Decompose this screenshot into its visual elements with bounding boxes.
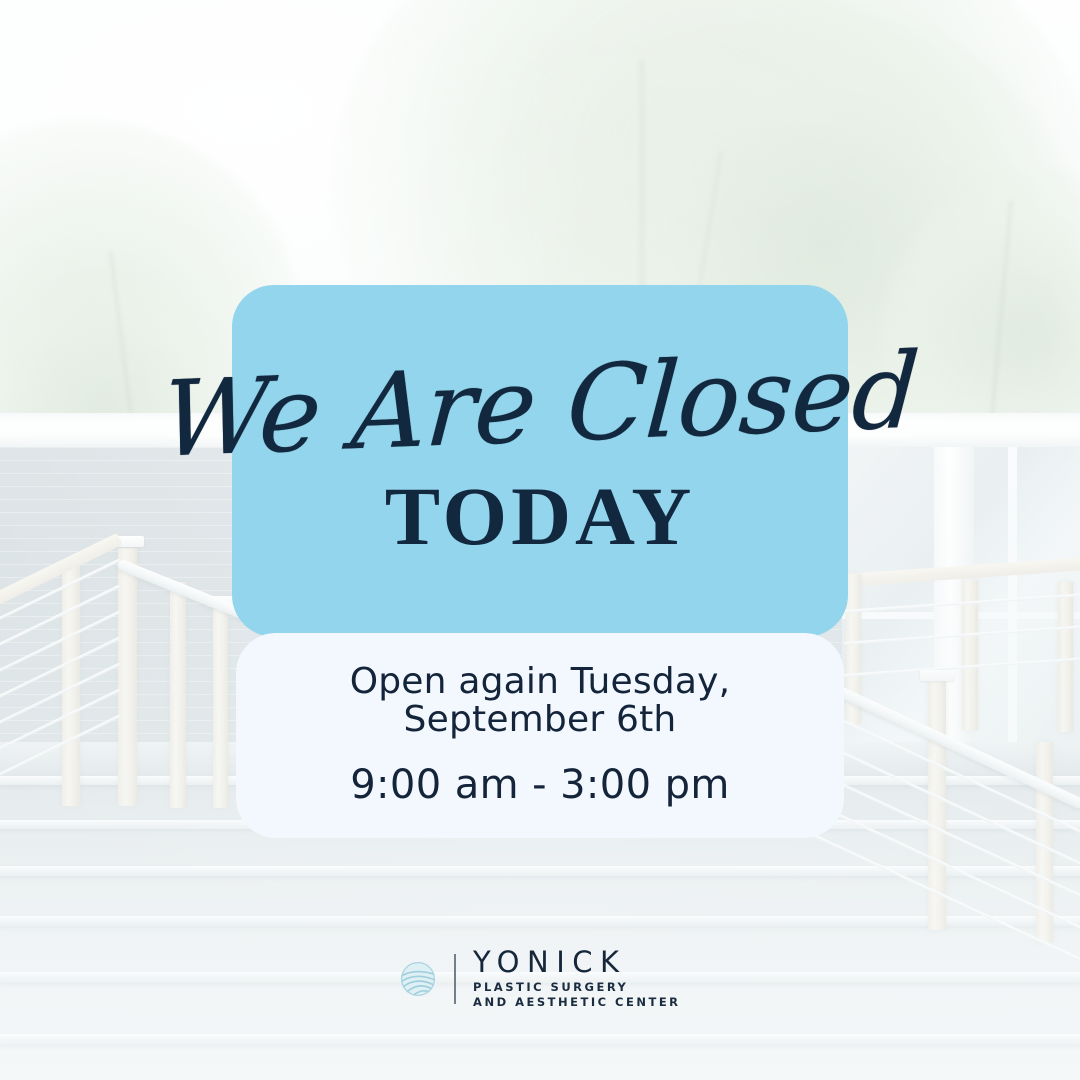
announcement-graphic: We Are Closed TODAY Open again Tuesday, … bbox=[0, 0, 1080, 1080]
logo-divider bbox=[454, 954, 456, 1004]
brand-tagline: PLASTIC SURGERY AND AESTHETIC CENTER bbox=[473, 980, 680, 1009]
headline-today: TODAY bbox=[385, 475, 696, 558]
reopen-date-line-a: Open again Tuesday, bbox=[350, 661, 731, 702]
reopen-hours-text: 9:00 am - 3:00 pm bbox=[350, 762, 730, 808]
brand-tagline-line1: PLASTIC SURGERY bbox=[473, 980, 628, 994]
yonick-circle-arcs-icon bbox=[399, 960, 437, 998]
reopen-date-line-b: September 6th bbox=[404, 699, 677, 740]
brand-name: YONICK bbox=[473, 948, 680, 977]
closed-notice-card: We Are Closed TODAY bbox=[232, 285, 848, 637]
brand-logo: YONICK PLASTIC SURGERY AND AESTHETIC CEN… bbox=[0, 948, 1080, 1009]
logo-text-block: YONICK PLASTIC SURGERY AND AESTHETIC CEN… bbox=[473, 948, 680, 1009]
announcement-card-stack: We Are Closed TODAY Open again Tuesday, … bbox=[232, 285, 848, 637]
reopen-date-text: Open again Tuesday, September 6th bbox=[350, 663, 731, 739]
reopen-details-card: Open again Tuesday, September 6th 9:00 a… bbox=[236, 633, 844, 838]
headline-script: We Are Closed bbox=[159, 338, 922, 471]
brand-tagline-line2: AND AESTHETIC CENTER bbox=[473, 995, 680, 1009]
